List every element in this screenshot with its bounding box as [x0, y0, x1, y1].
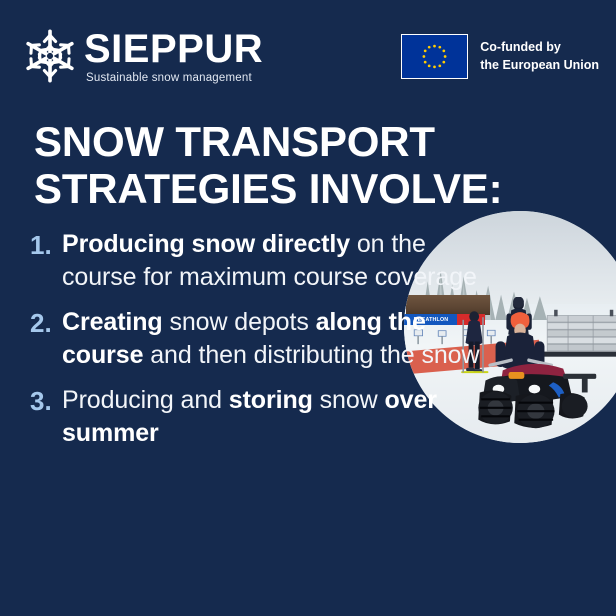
- list-item-bold-segment: Producing snow directly: [62, 230, 350, 258]
- list-item-text: Producing and storing snow over summer: [62, 384, 500, 449]
- brand-logo: SIEPPUR Sustainable snow management: [22, 27, 263, 84]
- list-item-bold-segment: Creating: [62, 308, 163, 336]
- list-item-plain-segment: snow: [313, 386, 385, 414]
- poster-header: SIEPPUR Sustainable snow management: [0, 0, 616, 110]
- list-item-number: 2.: [30, 306, 62, 341]
- brand-name: SIEPPUR: [84, 29, 263, 69]
- list-item-plain-segment: snow depots: [163, 308, 316, 336]
- eu-funding-badge: Co-funded by the European Union: [401, 34, 599, 79]
- list-item-text: Producing snow directly on the course fo…: [62, 228, 500, 293]
- eu-flag-icon: [401, 34, 468, 79]
- list-item-plain-segment: and then distributing the snow: [143, 341, 479, 369]
- page-title: SNOW TRANSPORT STRATEGIES INVOLVE:: [34, 118, 554, 212]
- list-item-bold-segment: storing: [229, 386, 313, 414]
- headline-line-2: STRATEGIES INVOLVE:: [34, 165, 554, 212]
- list-item-text: Creating snow depots along the course an…: [62, 306, 500, 371]
- brand-tagline: Sustainable snow management: [86, 72, 263, 84]
- list-item-number: 1.: [30, 228, 62, 263]
- list-item-number: 3.: [30, 384, 62, 419]
- eu-label-line-1: Co-funded by: [480, 40, 561, 54]
- list-item: 3. Producing and storing snow over summe…: [30, 384, 500, 449]
- list-item: 2. Creating snow depots along the course…: [30, 306, 500, 371]
- eu-funding-label: Co-funded by the European Union: [480, 39, 599, 74]
- snowflake-icon: [22, 28, 78, 84]
- strategies-list: 1. Producing snow directly on the course…: [30, 228, 500, 462]
- list-item-plain-segment: Producing and: [62, 386, 229, 414]
- list-item: 1. Producing snow directly on the course…: [30, 228, 500, 293]
- headline-line-1: SNOW TRANSPORT: [34, 118, 554, 165]
- poster-canvas: SIEPPUR Sustainable snow management: [0, 0, 616, 616]
- eu-label-line-2: the European Union: [480, 58, 599, 72]
